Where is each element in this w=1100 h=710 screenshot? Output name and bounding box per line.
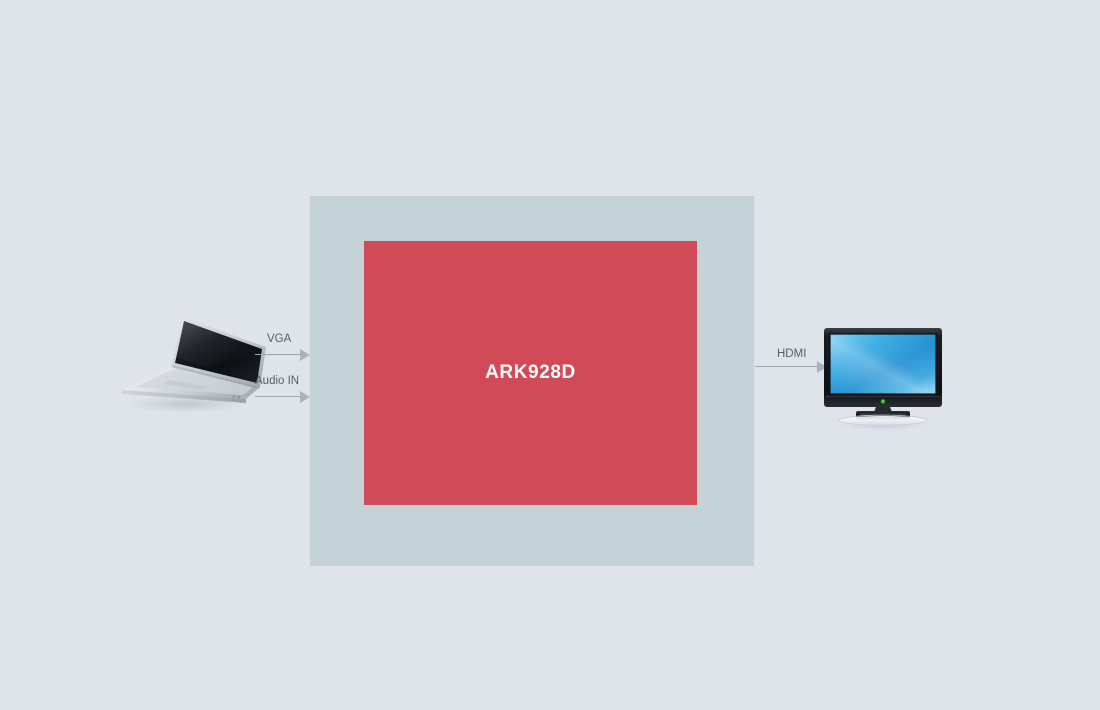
device-model-label: ARK928D xyxy=(485,362,576,384)
vga-connection-arrow xyxy=(255,346,310,364)
audio-in-arrow-head xyxy=(300,391,310,403)
audio-in-connection-arrow xyxy=(255,388,310,406)
hdmi-arrow-line xyxy=(755,366,820,367)
diagram-canvas: VGA Audio IN ARK928D HDMI xyxy=(0,0,1100,710)
hdmi-label: HDMI xyxy=(777,348,806,360)
hdmi-connection-arrow xyxy=(755,358,827,376)
audio-in-arrow-line xyxy=(255,396,303,397)
audio-in-label: Audio IN xyxy=(255,375,299,387)
vga-arrow-head xyxy=(300,349,310,361)
laptop-icon xyxy=(110,310,270,415)
vga-label: VGA xyxy=(267,333,291,345)
device-outer-panel: ARK928D xyxy=(310,196,754,566)
device-inner-panel: ARK928D xyxy=(364,241,697,505)
television-icon xyxy=(820,326,946,430)
vga-arrow-line xyxy=(255,354,303,355)
